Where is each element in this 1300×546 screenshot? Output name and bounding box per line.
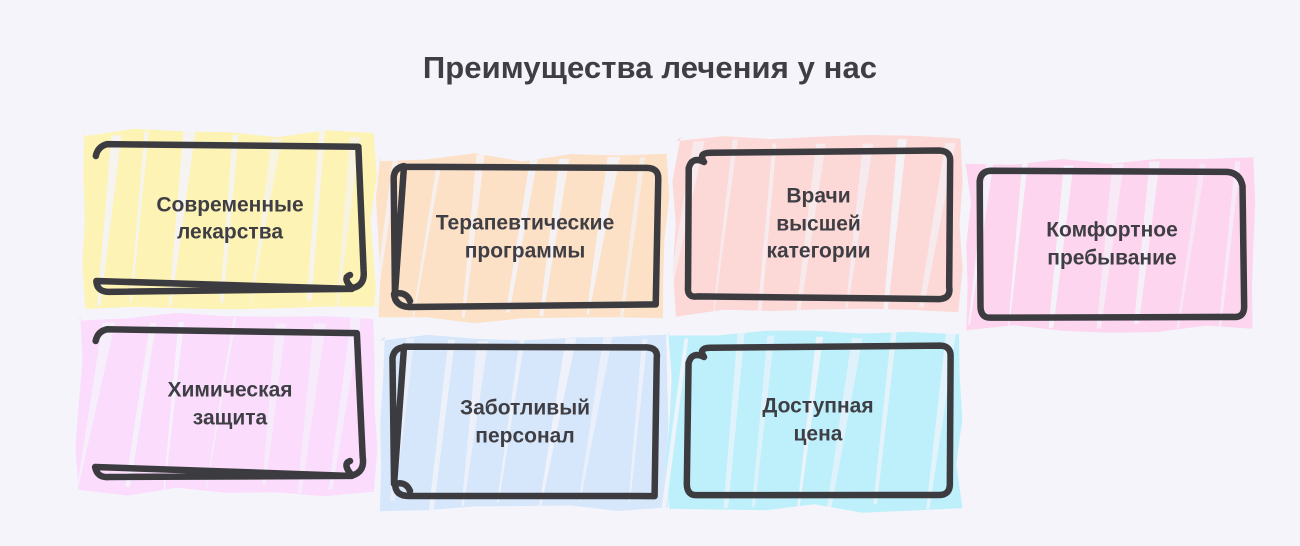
benefit-card-affordable-price[interactable]: Доступная цена [686,345,950,495]
benefits-infographic: Преимущества лечения у нас Современные л… [0,0,1300,546]
benefit-card-modern-medicines[interactable]: Современные лекарства [96,145,364,292]
benefit-card-comfortable-stay[interactable]: Комфортное пребывание [980,170,1244,318]
benefit-card-caring-staff[interactable]: Заботливый персонал [393,347,657,497]
benefit-card-top-category-doctors[interactable]: Врачи высшей категории [686,150,951,298]
card-shape-chemical-protection [70,304,390,504]
card-shape-modern-medicines [70,119,390,318]
card-fill [372,153,669,323]
card-shape-affordable-price [660,319,976,521]
card-fill [666,135,963,317]
card-shape-top-category-doctors [660,124,977,324]
card-shape-caring-staff [367,321,683,523]
page-title: Преимущества лечения у нас [0,50,1300,86]
card-fill [965,157,1255,333]
benefit-card-chemical-protection[interactable]: Химическая защита [96,330,364,478]
card-shape-therapy-programs [367,141,683,333]
benefit-card-therapy-programs[interactable]: Терапевтические программы [393,167,657,307]
card-shape-comfortable-stay [954,144,1270,344]
card-fill [380,335,668,512]
